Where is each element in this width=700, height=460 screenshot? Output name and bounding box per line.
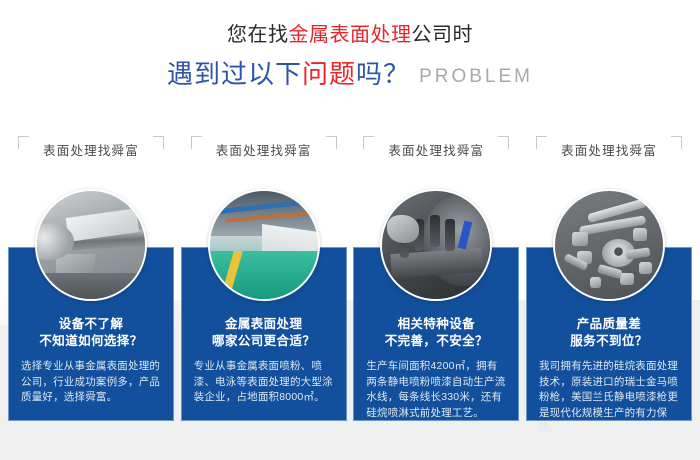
bracket-top-left-icon: [363, 136, 374, 149]
card-tag-label: 表面处理找舜富: [561, 140, 657, 159]
card-heading-line2: 服务不到位？: [539, 333, 679, 350]
card-heading-line2: 哪家公司更合适？: [194, 333, 334, 350]
lathe-plate-shape: [66, 208, 140, 241]
bracket-top-right-icon: [326, 136, 337, 149]
card-tag-label: 表面处理找舜富: [388, 140, 484, 159]
problem-card-1[interactable]: 表面处理找舜富 设备不了解 不知道如何选择？ 选择专业从事金属表面处理的公司，行…: [8, 133, 174, 433]
bolt-small-shape: [626, 248, 651, 260]
lathe-machining-photo: [35, 189, 147, 301]
card-body-text: 选择专业从事金属表面处理的公司，行业成功案例多，产品质量好，选择舜富。: [21, 359, 161, 406]
problem-card-3[interactable]: 表面处理找舜富 相关特种设备 不完善，不安全？ 生产车间面积4200㎡，拥有两条…: [353, 133, 519, 433]
bolts-photo-art: [555, 191, 663, 299]
card-heading-line1: 产品质量差: [539, 316, 679, 333]
bracket-top-left-icon: [18, 136, 29, 149]
tooling-pin-shape: [430, 215, 440, 247]
card-text-block-1: 设备不了解 不知道如何选择？ 选择专业从事金属表面处理的公司，行业成功案例多，产…: [9, 316, 173, 406]
card-text-block-4: 产品质量差 服务不到位？ 我司拥有先进的硅烷表面处理技术，原装进口的瑞士金马喷粉…: [527, 316, 691, 437]
problem-card-4[interactable]: 表面处理找舜富 产品质量差 服务不到位？ 我司拥有先进的硅烷表面处理技术，原装进…: [526, 133, 692, 433]
card-heading-line1: 金属表面处理: [194, 316, 334, 333]
corridor-photo-art: [210, 191, 318, 299]
bracket-top-right-icon: [671, 136, 682, 149]
nut-shape: [639, 262, 652, 274]
tooling-hand-shape: [387, 215, 419, 243]
tooling-pin-shape: [445, 219, 455, 251]
lathe-bed-shape: [37, 273, 145, 299]
card-text-block-2: 金属表面处理 哪家公司更合适？ 专业从事金属表面喷粉、喷漆、电泳等表面处理的大型…: [182, 316, 346, 406]
promo-page: 您在找金属表面处理公司时 遇到过以下问题吗？PROBLEM 表面处理找舜富 设备…: [0, 0, 700, 460]
headline-secondary-suffix: 吗？: [356, 59, 410, 89]
headline-primary-highlight: 金属表面处理: [289, 24, 412, 46]
bolts-and-nuts-photo: [553, 189, 665, 301]
metal-tooling-photo: [380, 189, 492, 301]
nut-shape: [590, 277, 602, 288]
card-heading-line2: 不知道如何选择？: [21, 333, 161, 350]
lathe-photo-art: [37, 191, 145, 299]
headline-secondary-highlight: 问题: [302, 59, 356, 89]
nut-shape: [633, 228, 647, 241]
nut-shape: [572, 232, 588, 246]
card-body-text: 专业从事金属表面喷粉、喷漆、电泳等表面处理的大型涂装企业，占地面积8000㎡。: [194, 359, 334, 406]
headline-primary-prefix: 您在找: [227, 24, 289, 46]
nut-shape: [620, 273, 634, 285]
card-body-text: 我司拥有先进的硅烷表面处理技术，原装进口的瑞士金马喷粉枪，美国兰氏静电喷漆枪更是…: [539, 359, 679, 437]
bracket-top-right-icon: [153, 136, 164, 149]
card-heading-line1: 设备不了解: [21, 316, 161, 333]
card-body-text: 生产车间面积4200㎡，拥有两条静电喷粉喷漆自动生产流水线，每条线长330米，还…: [366, 359, 506, 421]
bracket-top-left-icon: [191, 136, 202, 149]
bracket-top-left-icon: [536, 136, 547, 149]
card-tag-2: 表面处理找舜富: [181, 133, 347, 165]
headline-primary: 您在找金属表面处理公司时: [0, 22, 700, 48]
headline-primary-suffix: 公司时: [412, 24, 474, 46]
card-tag-3: 表面处理找舜富: [353, 133, 519, 165]
card-tag-1: 表面处理找舜富: [8, 133, 174, 165]
headline-secondary-prefix: 遇到过以下: [167, 59, 302, 89]
tooling-photo-art: [382, 191, 490, 299]
page-header: 您在找金属表面处理公司时 遇到过以下问题吗？PROBLEM: [0, 0, 700, 94]
headline-secondary: 遇到过以下问题吗？PROBLEM: [0, 57, 700, 94]
card-heading-line2: 不完善，不安全？: [366, 333, 506, 350]
card-tag-label: 表面处理找舜富: [216, 140, 312, 159]
card-tag-label: 表面处理找舜富: [43, 140, 139, 159]
card-text-block-3: 相关特种设备 不完善，不安全？ 生产车间面积4200㎡，拥有两条静电喷粉喷漆自动…: [354, 316, 518, 421]
factory-corridor-photo: [208, 189, 320, 301]
problem-cards-row: 表面处理找舜富 设备不了解 不知道如何选择？ 选择专业从事金属表面处理的公司，行…: [0, 133, 700, 433]
card-tag-4: 表面处理找舜富: [526, 133, 692, 165]
card-heading-line1: 相关特种设备: [366, 316, 506, 333]
bracket-top-right-icon: [498, 136, 509, 149]
problem-card-2[interactable]: 表面处理找舜富 金属表面处理 哪家公司更合适？ 专业从事金属表面喷粉、喷漆、电泳…: [181, 133, 347, 433]
headline-english-label: PROBLEM: [419, 66, 533, 87]
